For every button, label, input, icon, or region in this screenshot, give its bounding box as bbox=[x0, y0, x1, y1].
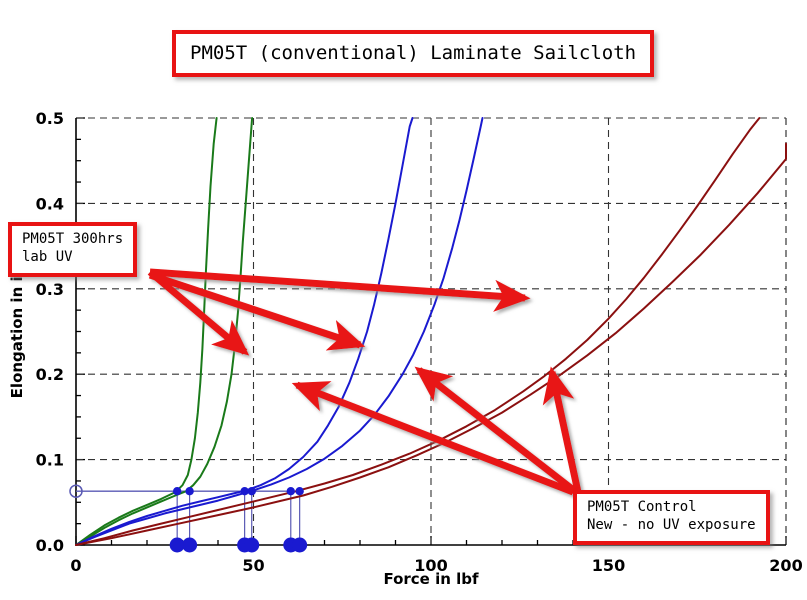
x-axis-title: Force in lbf bbox=[383, 570, 479, 588]
chart-screenshot: 0501001502000.00.10.20.30.40.5 Elongatio… bbox=[0, 0, 807, 600]
marker-drop-lines bbox=[177, 491, 299, 545]
svg-text:50: 50 bbox=[242, 556, 264, 575]
curve-uv-blue-2 bbox=[76, 118, 483, 545]
arrow-control-to-green bbox=[297, 385, 573, 492]
chart-title: PM05T (conventional) Laminate Sailcloth bbox=[172, 30, 654, 77]
svg-text:0.1: 0.1 bbox=[36, 451, 64, 470]
svg-text:0.3: 0.3 bbox=[36, 280, 64, 299]
svg-text:0.2: 0.2 bbox=[36, 365, 64, 384]
svg-text:0.5: 0.5 bbox=[36, 109, 64, 128]
svg-text:0.4: 0.4 bbox=[36, 194, 64, 213]
arrow-uv-to-green bbox=[150, 272, 245, 352]
callout-control-label: PM05T Control New - no UV exposure bbox=[573, 490, 770, 545]
svg-text:0.0: 0.0 bbox=[36, 536, 64, 555]
curve-uv-blue-1 bbox=[76, 118, 413, 545]
svg-text:150: 150 bbox=[592, 556, 625, 575]
callout-uv-label: PM05T 300hrs lab UV bbox=[8, 222, 137, 277]
svg-text:0: 0 bbox=[70, 556, 81, 575]
svg-text:200: 200 bbox=[769, 556, 802, 575]
y-axis-title: Elongation in in bbox=[8, 266, 26, 399]
curve-control-red-1 bbox=[76, 118, 759, 545]
axis-intercept-dots bbox=[170, 538, 307, 553]
annotation-arrows bbox=[150, 272, 578, 492]
grid-lines bbox=[76, 118, 786, 545]
